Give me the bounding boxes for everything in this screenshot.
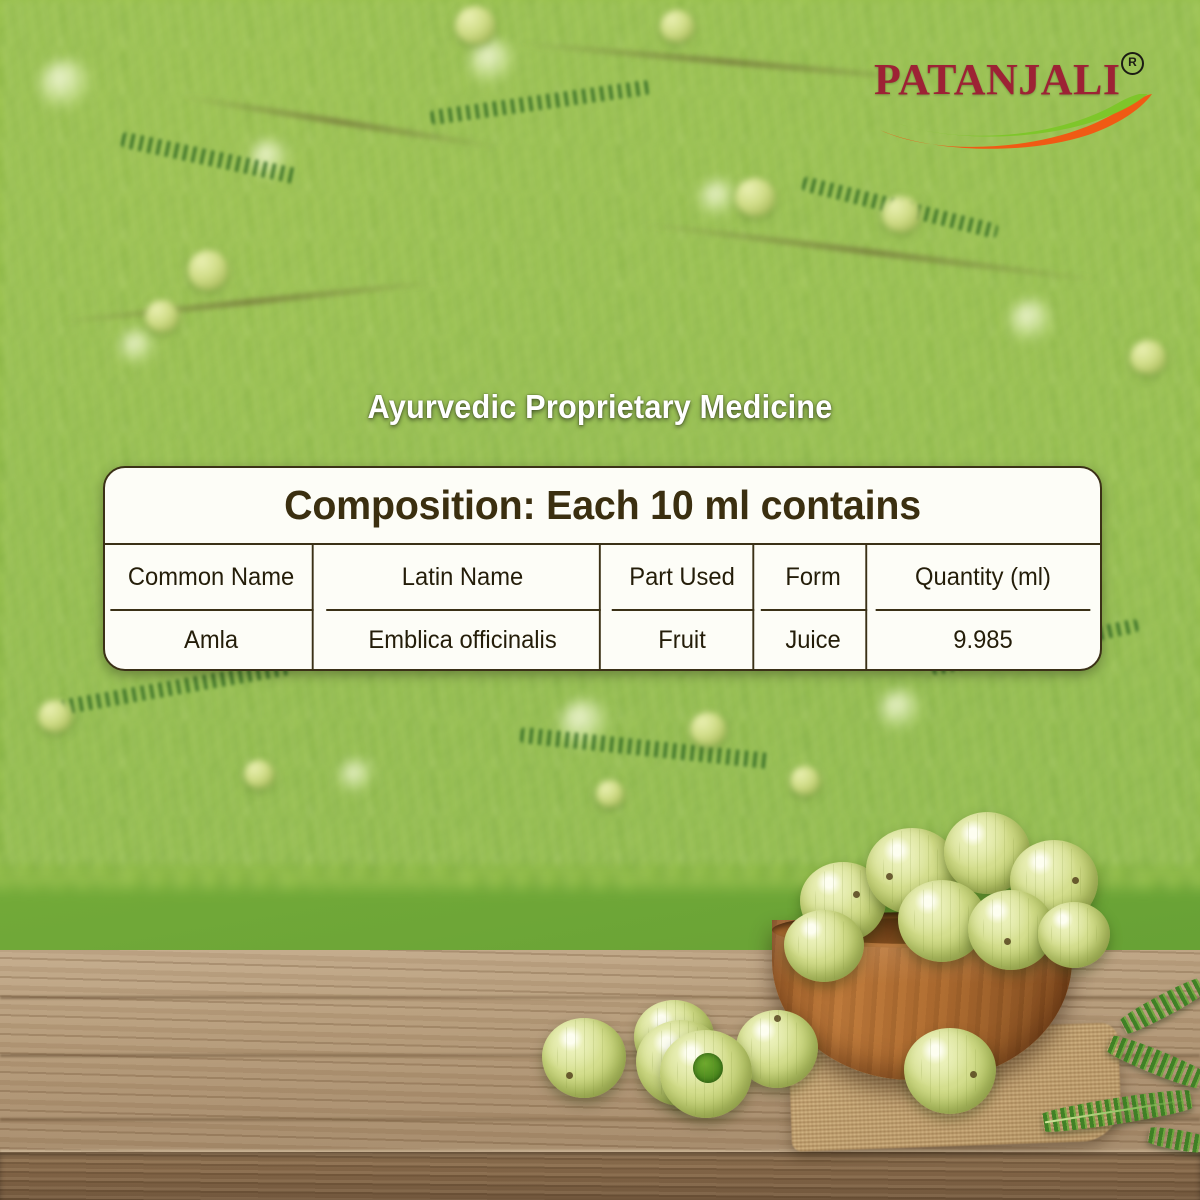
amla-fruit-background <box>145 300 179 332</box>
amla-fruit-background <box>455 6 495 44</box>
amla-fruit-background <box>38 700 72 732</box>
amla-fruit-background <box>790 766 820 795</box>
composition-card: Composition: Each 10 ml contains Common … <box>103 466 1102 671</box>
page-title: Ayurvedic Proprietary Medicine <box>42 388 1158 426</box>
amla-fruit <box>542 1018 626 1098</box>
table-cell-part-used: Fruit <box>612 609 755 669</box>
patanjali-logo: PATANJALI R <box>874 50 1164 150</box>
amla-fruit-background <box>1130 340 1166 374</box>
amla-fruit <box>904 1028 996 1114</box>
amla-fruit-background <box>690 712 726 746</box>
table-cell-quantity: 9.985 <box>876 609 1091 669</box>
column-header-latin-name: Latin Name <box>326 545 601 609</box>
table-cell-form: Juice <box>761 609 867 669</box>
composition-table: Common Name Latin Name Part Used Form Qu… <box>105 543 1100 669</box>
amla-fruit-background <box>660 10 694 42</box>
amla-fruit-background <box>882 196 920 232</box>
table-cell-latin-name: Emblica officinalis <box>326 609 601 669</box>
column-header-form: Form <box>761 545 867 609</box>
amla-fruit-front <box>660 1030 752 1118</box>
product-banner: PATANJALI R Ayurvedic Proprietary Medici… <box>0 0 1200 1200</box>
amla-fruit-background <box>244 760 274 788</box>
amla-fruit <box>784 910 864 982</box>
column-header-part-used: Part Used <box>612 545 755 609</box>
composition-title: Composition: Each 10 ml contains <box>125 468 1080 543</box>
amla-fruit-background <box>188 250 228 290</box>
amla-fruit-background <box>596 780 624 807</box>
brand-swoosh-icon <box>874 94 1156 150</box>
amla-fruit-background <box>735 178 775 216</box>
registered-trademark-icon: R <box>1121 52 1144 75</box>
amla-fruit <box>1038 902 1110 968</box>
column-header-quantity: Quantity (ml) <box>876 545 1091 609</box>
column-header-common-name: Common Name <box>110 545 313 609</box>
table-cell-common-name: Amla <box>110 609 313 669</box>
wooden-table-edge <box>0 1152 1200 1200</box>
amla-calyx <box>693 1053 723 1083</box>
